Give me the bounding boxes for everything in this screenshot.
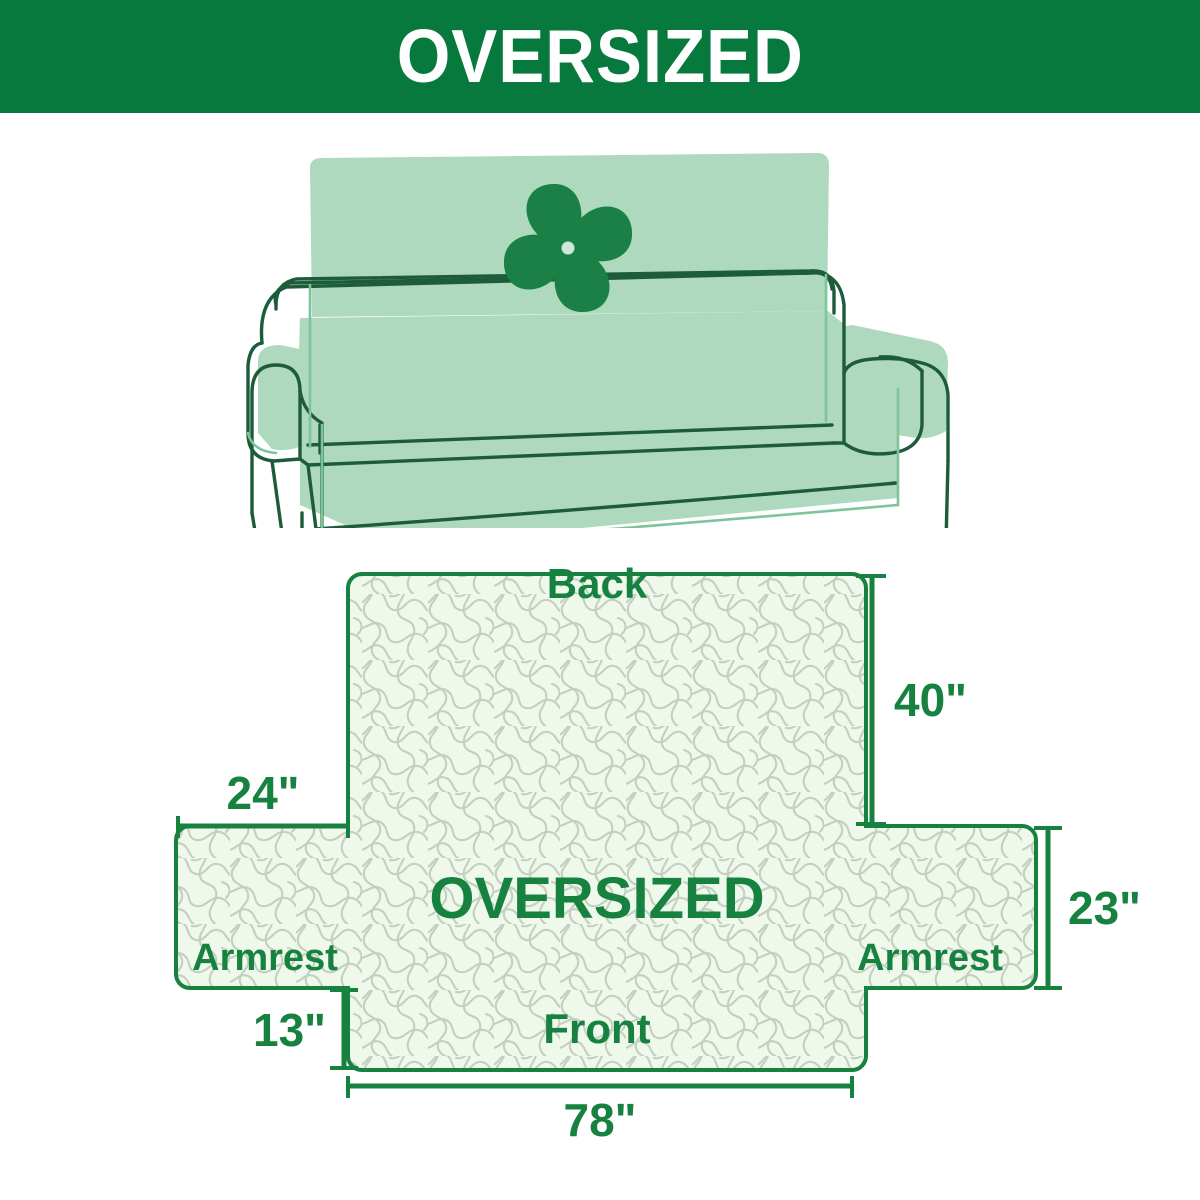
page-title: OVERSIZED (396, 19, 803, 94)
panel-label-front: Front (543, 1005, 650, 1052)
dimension-front-offset: 13" (253, 990, 358, 1068)
dimension-label-78: 78" (564, 1094, 637, 1146)
dimension-total-width: 78" (348, 1076, 852, 1146)
panel-label-back: Back (547, 560, 648, 607)
panel-label-center: OVERSIZED (429, 866, 764, 931)
dimension-back-offset: 24" (178, 767, 348, 838)
dimension-diagram: Back Front Armrest Armrest OVERSIZED 40"… (0, 528, 1200, 1200)
dimension-armrest-depth: 23" (1034, 828, 1141, 988)
sofa-body (248, 153, 948, 528)
dimension-label-13: 13" (253, 1004, 326, 1056)
header-banner: OVERSIZED (0, 0, 1200, 113)
panel-label-armrest-left: Armrest (192, 937, 338, 979)
dimension-label-24: 24" (227, 767, 300, 819)
dimension-label-40: 40" (894, 674, 967, 726)
sofa-illustration (0, 113, 1200, 528)
dimension-back-height: 40" (856, 576, 967, 824)
dimension-label-23: 23" (1068, 882, 1141, 934)
panel-label-armrest-right: Armrest (857, 937, 1003, 979)
